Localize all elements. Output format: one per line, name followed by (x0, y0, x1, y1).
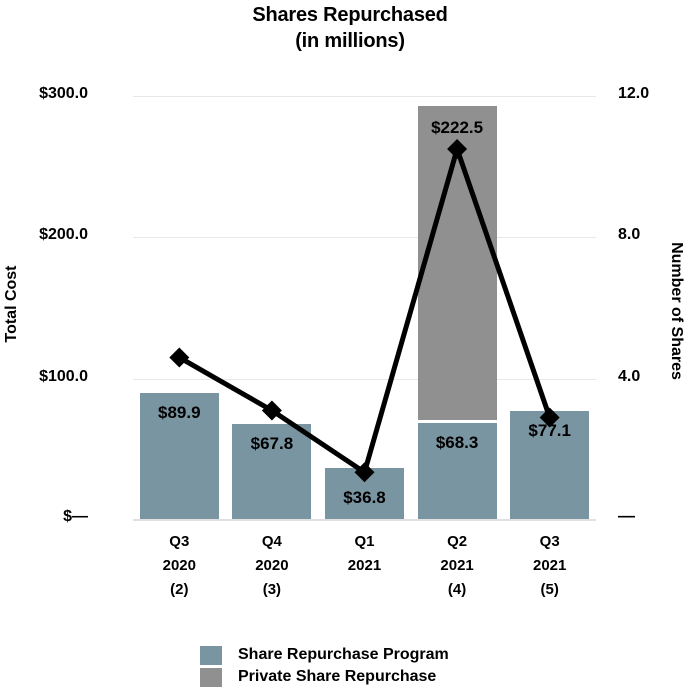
y-axis-tick-label-left: $300.0 (39, 85, 88, 103)
chart-title-line1: Shares Repurchased (252, 4, 447, 26)
x-axis-category-label: Q22021(4) (411, 530, 504, 602)
line-marker-diamond[interactable] (169, 347, 189, 367)
y-axis-tick-label-right: 12.0 (618, 85, 649, 103)
category-label-line: Q1 (318, 530, 411, 554)
category-label-line: Q3 (133, 530, 226, 554)
y-axis-tick-label-right: 4.0 (618, 368, 640, 386)
line-series-layer (133, 96, 596, 520)
category-label-line: 2021 (411, 554, 504, 578)
chart-title-subtitle: (in millions) (0, 28, 700, 54)
legend-label: Private Share Repurchase (238, 668, 436, 686)
category-label-line: (5) (503, 578, 596, 602)
y-axis-tick-label-right: 8.0 (618, 226, 640, 244)
category-label-line: 2021 (503, 554, 596, 578)
category-label-line: (4) (411, 578, 504, 602)
legend-color-swatch (200, 668, 222, 687)
legend-color-swatch (200, 646, 222, 665)
x-axis-baseline (133, 519, 596, 521)
y-axis-tick-label-left: $200.0 (39, 226, 88, 244)
category-label-line: Q2 (411, 530, 504, 554)
plot-area: $89.9$67.8$36.8$68.3$222.5$77.1 (133, 96, 596, 520)
x-axis-category-label: Q32021(5) (503, 530, 596, 602)
x-axis-category-label: Q32020(2) (133, 530, 226, 602)
legend-item[interactable]: Private Share Repurchase (200, 666, 500, 688)
y-axis-title-right: Number of Shares (667, 231, 685, 391)
y-axis-tick-label-left: $— (63, 508, 88, 526)
line-series-number-of-shares (179, 149, 549, 472)
y-axis-tick-label-left: $100.0 (39, 368, 88, 386)
y-axis-title-left: Total Cost (3, 244, 21, 364)
x-axis-category-label: Q42020(3) (226, 530, 319, 602)
line-marker-diamond[interactable] (447, 139, 467, 159)
line-marker-diamond[interactable] (540, 408, 560, 428)
y-axis-tick-label-right: — (618, 506, 635, 526)
chart-title: Shares Repurchased (in millions) (0, 2, 700, 54)
category-label-line: 2020 (133, 554, 226, 578)
category-label-line: Q4 (226, 530, 319, 554)
category-label-line: (3) (226, 578, 319, 602)
category-label-line: (2) (133, 578, 226, 602)
category-label-line: 2020 (226, 554, 319, 578)
legend-item[interactable]: Share Repurchase Program (200, 644, 500, 666)
category-label-line: Q3 (503, 530, 596, 554)
legend-label: Share Repurchase Program (238, 646, 449, 664)
x-axis-category-labels: Q32020(2)Q42020(3)Q12021Q22021(4)Q32021(… (133, 530, 596, 616)
category-label-line: 2021 (318, 554, 411, 578)
chart-container: Shares Repurchased (in millions) Total C… (0, 0, 700, 700)
x-axis-category-label: Q12021 (318, 530, 411, 578)
chart-legend: Share Repurchase ProgramPrivate Share Re… (0, 644, 700, 688)
